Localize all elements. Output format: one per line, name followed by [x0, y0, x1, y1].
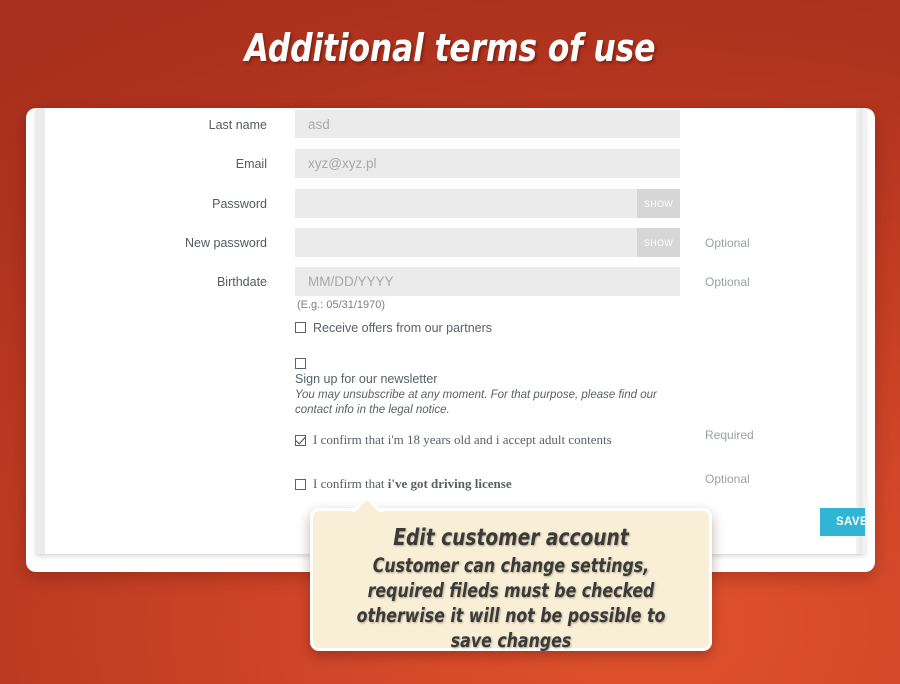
- label-new-password: New password: [45, 228, 267, 258]
- input-email[interactable]: xyz@xyz.pl: [295, 149, 680, 178]
- input-birthdate[interactable]: MM/DD/YYYY: [295, 267, 680, 296]
- new-password-show-button[interactable]: SHOW: [637, 228, 680, 257]
- label-email: Email: [45, 149, 267, 179]
- input-last-name-value: asd: [295, 117, 330, 132]
- note-adult: Required: [705, 426, 754, 444]
- newsletter-description: You may unsubscribe at any moment. For t…: [295, 388, 685, 418]
- save-button[interactable]: SAVE: [820, 508, 865, 536]
- hint-birthdate: (E.g.: 05/31/1970): [297, 299, 385, 311]
- label-last-name: Last name: [45, 110, 267, 140]
- note-birthdate: Optional: [705, 267, 750, 297]
- form-row-email: Email xyz@xyz.pl: [45, 149, 856, 179]
- form-row-last-name: Last name asd: [45, 110, 856, 140]
- checkbox-adult-label: I confirm that i'm 18 years old and i ac…: [313, 432, 612, 447]
- label-password: Password: [45, 189, 267, 219]
- panel-scrollbar[interactable]: [856, 108, 865, 554]
- label-birthdate: Birthdate: [45, 267, 267, 297]
- form-panel-inner: Last name asd Email xyz@xyz.pl Password: [36, 108, 865, 554]
- form-row-birthdate: Birthdate MM/DD/YYYY Optional (E.g.: 05/…: [45, 267, 856, 297]
- panel-left-gutter: [36, 108, 45, 554]
- form-row-password: Password SHOW: [45, 189, 856, 219]
- customer-account-form: Last name asd Email xyz@xyz.pl Password: [45, 108, 856, 554]
- form-row-new-password: New password SHOW Optional: [45, 228, 856, 258]
- input-password[interactable]: SHOW: [295, 189, 680, 218]
- checkbox-driving-box[interactable]: [295, 479, 306, 490]
- note-driving: Optional: [705, 470, 750, 488]
- form-panel: Last name asd Email xyz@xyz.pl Password: [36, 108, 865, 554]
- input-new-password[interactable]: SHOW: [295, 228, 680, 257]
- note-new-password: Optional: [705, 228, 750, 258]
- page-title: Additional terms of use: [36, 26, 864, 70]
- callout-pointer-icon: [351, 496, 383, 512]
- checkbox-adult-box[interactable]: [295, 435, 306, 446]
- checkbox-partners-box[interactable]: [295, 322, 306, 333]
- checkbox-row-driving[interactable]: I confirm that i've got driving license: [295, 475, 512, 492]
- account-card: Last name asd Email xyz@xyz.pl Password: [26, 108, 875, 572]
- password-show-button[interactable]: SHOW: [637, 189, 680, 218]
- checkbox-row-adult[interactable]: I confirm that i'm 18 years old and i ac…: [295, 431, 612, 448]
- checkbox-row-partners[interactable]: Receive offers from our partners: [295, 320, 492, 335]
- checkbox-newsletter-box[interactable]: [295, 358, 306, 369]
- checkbox-driving-bold: i've got driving license: [388, 476, 512, 491]
- checkbox-newsletter-box-wrap[interactable]: [295, 355, 306, 373]
- input-email-value: xyz@xyz.pl: [295, 156, 376, 171]
- input-last-name[interactable]: asd: [295, 110, 680, 138]
- callout-title: Edit customer account: [333, 525, 689, 551]
- input-birthdate-value: MM/DD/YYYY: [295, 274, 394, 289]
- checkbox-driving-label: I confirm that i've got driving license: [313, 476, 512, 491]
- checkbox-newsletter-label: Sign up for our newsletter: [295, 372, 437, 386]
- annotation-callout: Edit customer account Customer can chang…: [310, 508, 712, 651]
- callout-body: Customer can change settings, required f…: [333, 553, 689, 653]
- checkbox-partners-label: Receive offers from our partners: [313, 321, 492, 335]
- checkbox-driving-prefix: I confirm that: [313, 476, 388, 491]
